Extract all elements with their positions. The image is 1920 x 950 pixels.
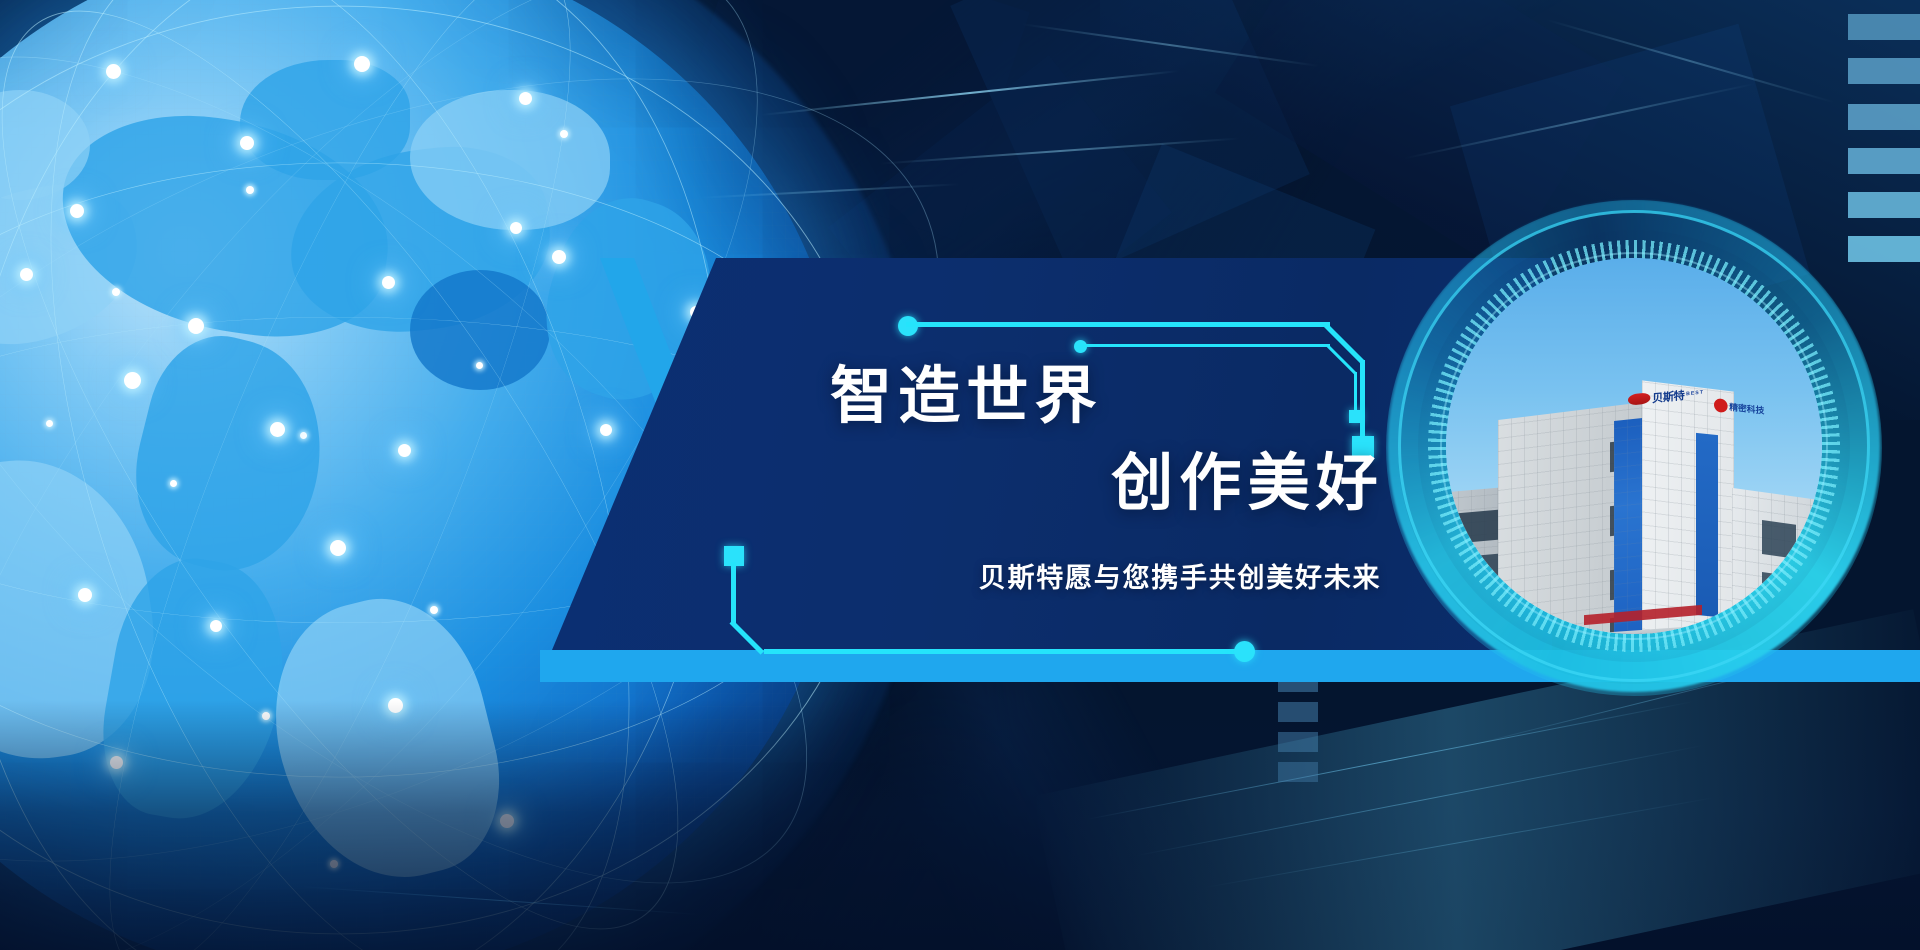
circular-photo-medallion: 贝斯特 BEST 精密科技	[1388, 200, 1880, 692]
medallion-inner-thin-ring	[1440, 252, 1828, 640]
hero-banner: 智造世界 创作美好 贝斯特愿与您携手共创美好未来	[0, 0, 1920, 950]
